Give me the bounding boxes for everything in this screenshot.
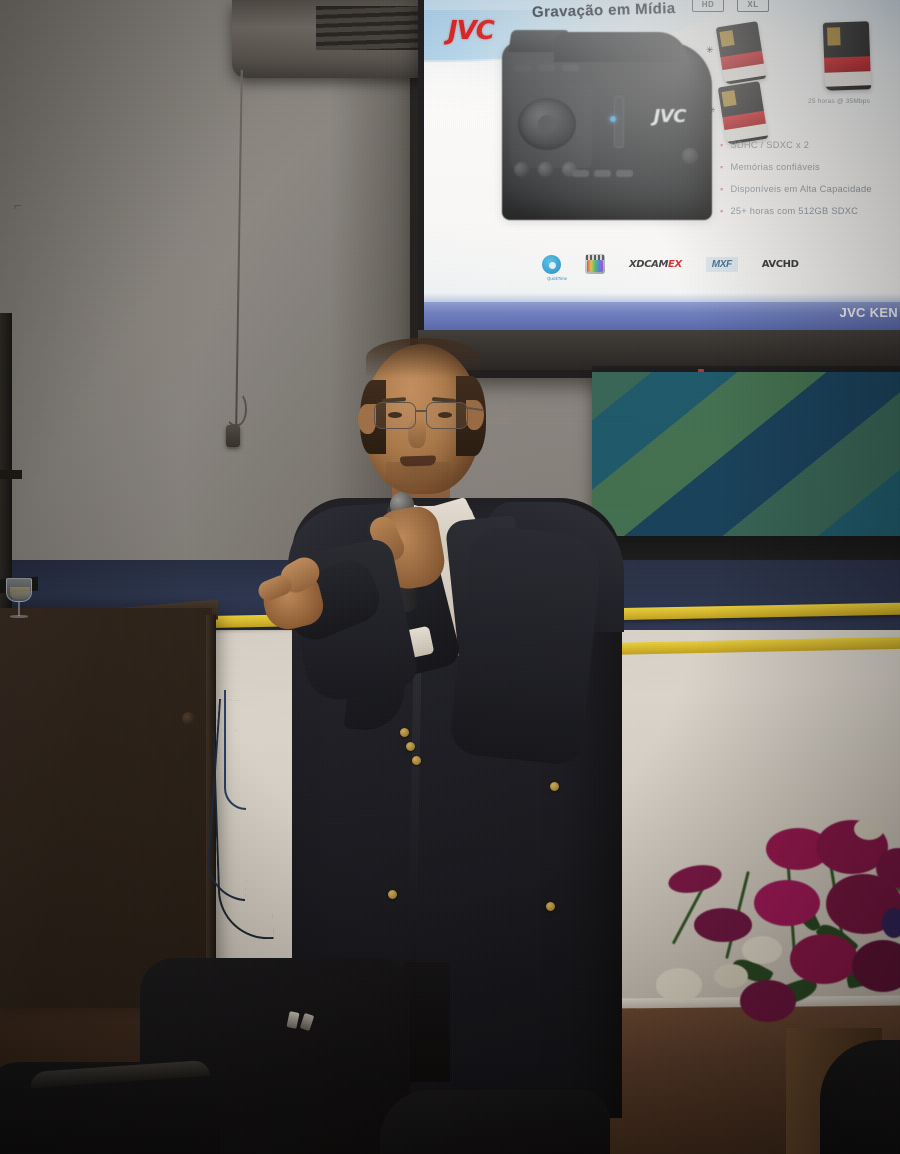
camcorder-jvc-logo: JVC (654, 106, 686, 127)
format-badge-row: HD XL (692, 0, 769, 12)
jacket-button (406, 742, 415, 751)
glass-stem (18, 602, 20, 616)
camcorder-button-row-bottom (572, 170, 633, 177)
podium-knob (182, 712, 195, 725)
jacket-button (400, 728, 409, 737)
camcorder-knob-row (514, 162, 577, 177)
ex-label: EX (668, 259, 682, 270)
sd-card-label (825, 72, 871, 87)
bullet-text: 25+ horas com 512GB SDXC (730, 206, 858, 216)
flower-bloom-white (742, 936, 782, 964)
flower-bloom-magenta (790, 934, 858, 984)
eye-left (388, 412, 402, 418)
eyeglasses-bridge (416, 410, 426, 412)
quicktime-label: QuickTime (542, 276, 572, 281)
camcorder-button (594, 170, 611, 177)
sd-card-marker-icon: ✳ (706, 45, 714, 56)
bullet-dot-icon: ▪ (720, 162, 723, 173)
flower-bloom-magenta (740, 980, 796, 1022)
equipment-stand-pole (0, 313, 12, 613)
sd-card-slot-2-icon (718, 81, 769, 145)
slide-bullet-item: ▪ SDHC / SDXC x 2 (720, 140, 900, 151)
cable-loop (225, 392, 247, 426)
foreground-post (404, 962, 450, 1082)
slide-bullet-item: ▪ Disponíveis em Alta Capacidade (720, 184, 900, 195)
nose (408, 418, 426, 448)
xdcam-label: XDCAM (629, 259, 668, 270)
mxf-logo: MXF (706, 257, 738, 272)
flower-bloom-magenta (666, 861, 724, 898)
film-strip-icon (586, 255, 604, 260)
bullet-text: Memórias confiáveis (730, 162, 819, 172)
slide-bullet-list: ▪ SDHC / SDXC x 2 ▪ Memórias confiáveis … (720, 140, 900, 228)
projector-screen: JVC Gravação em Mídia HD XL (424, 0, 900, 330)
bullet-text: Disponíveis em Alta Capacidade (730, 184, 871, 194)
final-cut-pro-icon (585, 254, 605, 274)
camcorder-power-led (610, 116, 616, 122)
camcorder-dial (518, 98, 576, 150)
eye-right (438, 412, 452, 418)
cable-plug (226, 425, 240, 447)
air-conditioner-vents (316, 6, 432, 50)
jvc-kenwood-brand: JVC KEN (840, 305, 898, 320)
sd-card-contacts (720, 30, 735, 47)
sd-card-contacts (722, 90, 737, 107)
hd-badge-icon: HD (692, 0, 724, 12)
slide-bullet-item: ▪ 25+ horas com 512GB SDXC (720, 206, 900, 217)
camcorder-knob (538, 162, 553, 177)
camcorder-top (554, 32, 688, 62)
sd-card-marker-icon: ✳ (708, 105, 716, 116)
flower-bloom-magenta (694, 908, 752, 942)
format-logo-strip: QuickTime XDCAMEX MXF AVCHD (542, 247, 882, 281)
slide-bullet-item: ▪ Memórias confiáveis (720, 162, 900, 173)
flower-bloom-purple (882, 908, 900, 938)
quicktime-icon (542, 255, 561, 274)
jacket-sleeve-button (550, 782, 559, 791)
flower-bloom-white (714, 964, 748, 988)
flower-bloom-white (656, 968, 702, 1002)
xl-badge-icon: XL (737, 0, 769, 12)
podium (0, 608, 212, 1008)
bullet-dot-icon: ▪ (720, 184, 723, 195)
sd-card-caption: 25 horas @ 35Mbps (808, 98, 870, 105)
bullet-text: SDHC / SDXC x 2 (730, 140, 809, 150)
camcorder-illustration: JVC (502, 42, 712, 220)
presentation-photo: ⌐ JVC Gravação em Mídia HD XL (0, 0, 900, 1154)
camcorder-button (616, 170, 633, 177)
bullet-dot-icon: ▪ (720, 206, 723, 217)
avchd-logo: AVCHD (762, 259, 799, 270)
camcorder-button (572, 170, 589, 177)
hair-top (366, 338, 480, 378)
podium-cable-3 (224, 690, 246, 810)
chin-shadow (386, 462, 450, 488)
sd-card-contacts (827, 28, 841, 46)
camcorder-port (682, 148, 698, 164)
glass-bowl (6, 578, 32, 602)
jacket-button (412, 756, 421, 765)
camcorder-button (538, 64, 555, 71)
flower-bloom-magenta (754, 880, 820, 926)
glass-base (10, 615, 28, 618)
sd-card-band (824, 57, 870, 74)
slide-footer-bar: JVC KEN (424, 302, 900, 330)
wall-scuff-mark: ⌐ (14, 198, 28, 214)
arm-right (448, 524, 603, 767)
foreground-chair-center (380, 1090, 610, 1154)
bullet-dot-icon: ▪ (720, 140, 723, 151)
glass-water (10, 587, 30, 599)
camcorder-switch (614, 96, 624, 148)
sd-card-slot-1-icon (716, 21, 767, 85)
xdcam-ex-logo: XDCAMEX (629, 259, 682, 270)
jacket-sleeve-button (546, 902, 555, 911)
camcorder-button (562, 64, 579, 71)
flower-arrangement (640, 812, 900, 1052)
camcorder-button (514, 64, 531, 71)
camcorder-button-row-top (514, 64, 579, 71)
sd-card-large-icon (823, 21, 871, 91)
ear-right (466, 400, 484, 430)
jvc-brand-logo: JVC (448, 16, 494, 46)
equipment-stand-arm (0, 470, 22, 479)
water-glass (6, 578, 32, 622)
jacket-button (388, 890, 397, 899)
camcorder-knob (514, 162, 529, 177)
flower-bloom-white (854, 818, 884, 840)
